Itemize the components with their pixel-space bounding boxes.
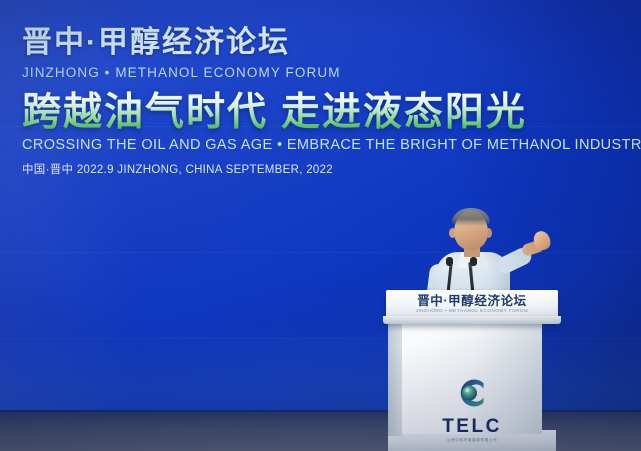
telc-logo: TELC 山西中科环境能源有限公司 xyxy=(402,376,542,443)
podium-forum-title-chinese: 晋中·甲醇经济论坛 xyxy=(386,294,558,308)
telc-wordmark: TELC xyxy=(402,417,542,437)
conference-photo: 晋中·甲醇经济论坛 JINZHONG • METHANOL ECONOMY FO… xyxy=(0,0,641,451)
podium-front-panel: TELC 山西中科环境能源有限公司 xyxy=(402,324,542,434)
speaker-hair xyxy=(452,208,490,226)
telc-emblem-icon xyxy=(452,376,492,415)
podium-side-panel xyxy=(388,324,403,436)
telc-subtext: 山西中科环境能源有限公司 xyxy=(402,438,542,443)
microphone-head-right xyxy=(470,257,477,266)
forum-title-english: JINZHONG • METHANOL ECONOMY FORUM xyxy=(22,65,622,80)
podium: TELC 山西中科环境能源有限公司 晋中·甲醇经济论坛 JINZHONG • M… xyxy=(386,290,558,451)
forum-title-chinese: 晋中·甲醇经济论坛 xyxy=(22,26,622,60)
microphone-head-left xyxy=(446,257,453,266)
podium-forum-title-english: JINZHONG • METHANOL ECONOMY FORUM xyxy=(386,308,558,314)
podium-top-edge xyxy=(383,316,561,324)
backdrop-title-block: 晋中·甲醇经济论坛 JINZHONG • METHANOL ECONOMY FO… xyxy=(22,26,622,177)
forum-date-location: 中国·晋中 2022.9 JINZHONG, CHINA SEPTEMBER, … xyxy=(22,163,622,177)
podium-top-panel: 晋中·甲醇经济论坛 JINZHONG • METHANOL ECONOMY FO… xyxy=(386,290,558,318)
forum-headline-english: CROSSING THE OIL AND GAS AGE • EMBRACE T… xyxy=(22,137,622,154)
forum-headline-chinese: 跨越油气时代 走进液态阳光 xyxy=(22,91,622,134)
